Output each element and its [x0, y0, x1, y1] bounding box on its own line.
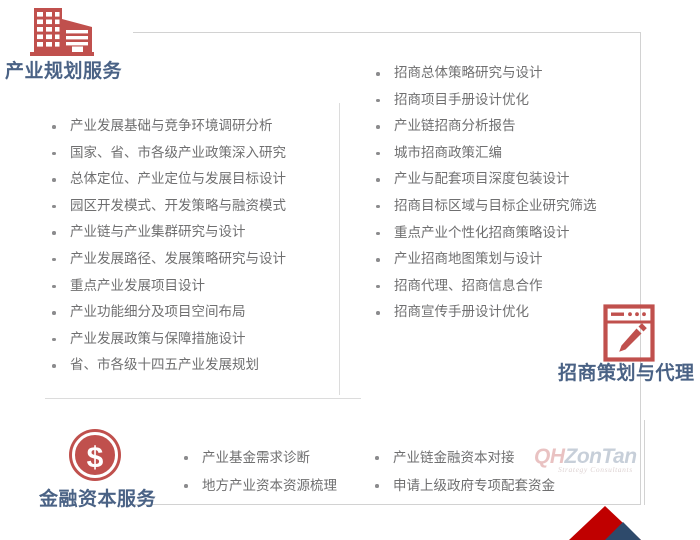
list-item: 园区开发模式、开发策略与融资模式 — [48, 193, 286, 220]
list-item: 省、市各级十四五产业发展规划 — [48, 352, 286, 379]
list-item: 产业发展路径、发展策略研究与设计 — [48, 246, 286, 273]
section-title-investment-promotion: 招商策划与代理 — [558, 364, 695, 383]
building-icon — [26, 2, 98, 57]
list-item: 申请上级政府专项配套资金 — [371, 472, 555, 500]
list-item: 招商宣传手册设计优化 — [372, 299, 597, 326]
section-title-financial-capital: 金融资本服务 — [39, 490, 156, 509]
list-item: 产业链金融资本对接 — [371, 444, 555, 472]
industry-planning-list: 产业发展基础与竞争环境调研分析 国家、省、市各级产业政策深入研究 总体定位、产业… — [48, 113, 286, 379]
list-item: 招商总体策略研究与设计 — [372, 60, 597, 87]
list-item: 产业链招商分析报告 — [372, 113, 597, 140]
slide-canvas: 产业规划服务 招商策划与代理 金融资本服务 产业发展基础与竞争环境调研分析 国家… — [0, 0, 700, 540]
horizontal-divider-sections — [45, 398, 361, 399]
investment-promotion-list: 招商总体策略研究与设计 招商项目手册设计优化 产业链招商分析报告 城市招商政策汇… — [372, 60, 597, 326]
financial-capital-list-left: 产业基金需求诊断 地方产业资本资源梳理 — [180, 444, 337, 500]
list-item: 重点产业发展项目设计 — [48, 273, 286, 300]
company-watermark-logo: QHZonTan Strategy Consultants — [534, 446, 654, 480]
list-item: 招商代理、招商信息合作 — [372, 273, 597, 300]
list-item: 招商目标区域与目标企业研究筛选 — [372, 193, 597, 220]
watermark-subtitle: Strategy Consultants — [558, 465, 654, 474]
list-item: 产业功能细分及项目空间布局 — [48, 299, 286, 326]
list-item: 招商项目手册设计优化 — [372, 87, 597, 114]
svg-text:$: $ — [87, 442, 104, 475]
list-item: 地方产业资本资源梳理 — [180, 472, 337, 500]
list-item: 产业与配套项目深度包装设计 — [372, 166, 597, 193]
list-item: 城市招商政策汇编 — [372, 140, 597, 167]
list-item: 国家、省、市各级产业政策深入研究 — [48, 140, 286, 167]
list-item: 产业发展政策与保障措施设计 — [48, 326, 286, 353]
corner-triangle-decoration — [548, 498, 648, 540]
vertical-divider-columns — [339, 103, 340, 395]
list-item: 重点产业个性化招商策略设计 — [372, 220, 597, 247]
list-item: 产业招商地图策划与设计 — [372, 246, 597, 273]
browser-pencil-icon — [603, 304, 655, 362]
watermark-wordmark: QHZonTan — [534, 446, 654, 467]
coins-dollar-icon: $ — [66, 424, 138, 486]
section-title-industry-planning: 产业规划服务 — [5, 62, 122, 81]
list-item: 产业链与产业集群研究与设计 — [48, 219, 286, 246]
list-item: 产业基金需求诊断 — [180, 444, 337, 472]
financial-capital-list-right: 产业链金融资本对接 申请上级政府专项配套资金 — [371, 444, 555, 500]
list-item: 总体定位、产业定位与发展目标设计 — [48, 166, 286, 193]
list-item: 产业发展基础与竞争环境调研分析 — [48, 113, 286, 140]
